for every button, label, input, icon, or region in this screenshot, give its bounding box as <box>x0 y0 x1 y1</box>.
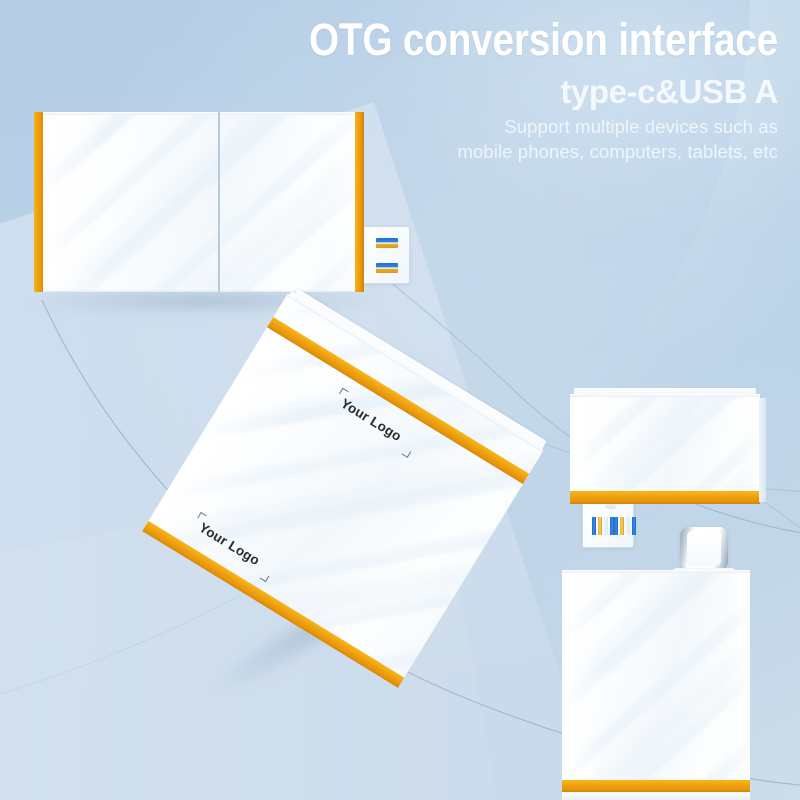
adapter-body <box>562 570 750 800</box>
usb-pin-group-left <box>592 517 614 535</box>
device-top-left-adapter <box>34 112 364 292</box>
usb-pin <box>604 517 608 535</box>
usb-pin-upper <box>376 238 398 248</box>
usb-plug-notch <box>605 504 616 509</box>
body-bottom-edge <box>34 290 364 292</box>
type-c-shell <box>680 527 728 570</box>
body-top-edge <box>34 112 364 115</box>
body-top-edge <box>562 570 750 573</box>
product-banner-stage: OTG conversion interface type-c&USB A Su… <box>0 0 800 800</box>
usb-pin <box>598 517 602 535</box>
usb-pin <box>592 517 596 535</box>
body-left-gloss <box>570 394 612 504</box>
accent-stripe-bottom <box>562 780 750 792</box>
device-right-mid-adapter <box>570 394 760 504</box>
usb-pin <box>620 517 624 535</box>
body-top-edge <box>570 394 760 397</box>
body-left-gloss <box>34 112 107 292</box>
usb-pin <box>626 517 630 535</box>
banner-subtitle: type-c&USB A <box>218 73 778 111</box>
accent-stripe-right <box>355 112 364 292</box>
type-c-face <box>687 531 722 566</box>
body-right-gloss <box>724 570 750 800</box>
usb-pin <box>614 517 618 535</box>
accent-stripe-bottom <box>570 491 760 504</box>
usb-pin-lower <box>376 263 398 273</box>
body-right-gloss <box>733 394 760 504</box>
body-left-gloss <box>562 570 603 800</box>
usb-a-plug-right-mid <box>582 498 634 548</box>
adapter-right-side-face <box>759 398 766 502</box>
accent-stripe-left <box>34 112 43 292</box>
usb-pin-group-right <box>614 517 636 535</box>
device-bottom-right-adapter <box>562 570 750 800</box>
adapter-bottom-face <box>562 792 750 800</box>
adapter-body <box>570 394 760 504</box>
usb-pin <box>632 517 636 535</box>
adapter-body <box>34 112 364 292</box>
page-title: OTG conversion interface <box>296 14 778 66</box>
body-seam-divider <box>218 112 220 292</box>
